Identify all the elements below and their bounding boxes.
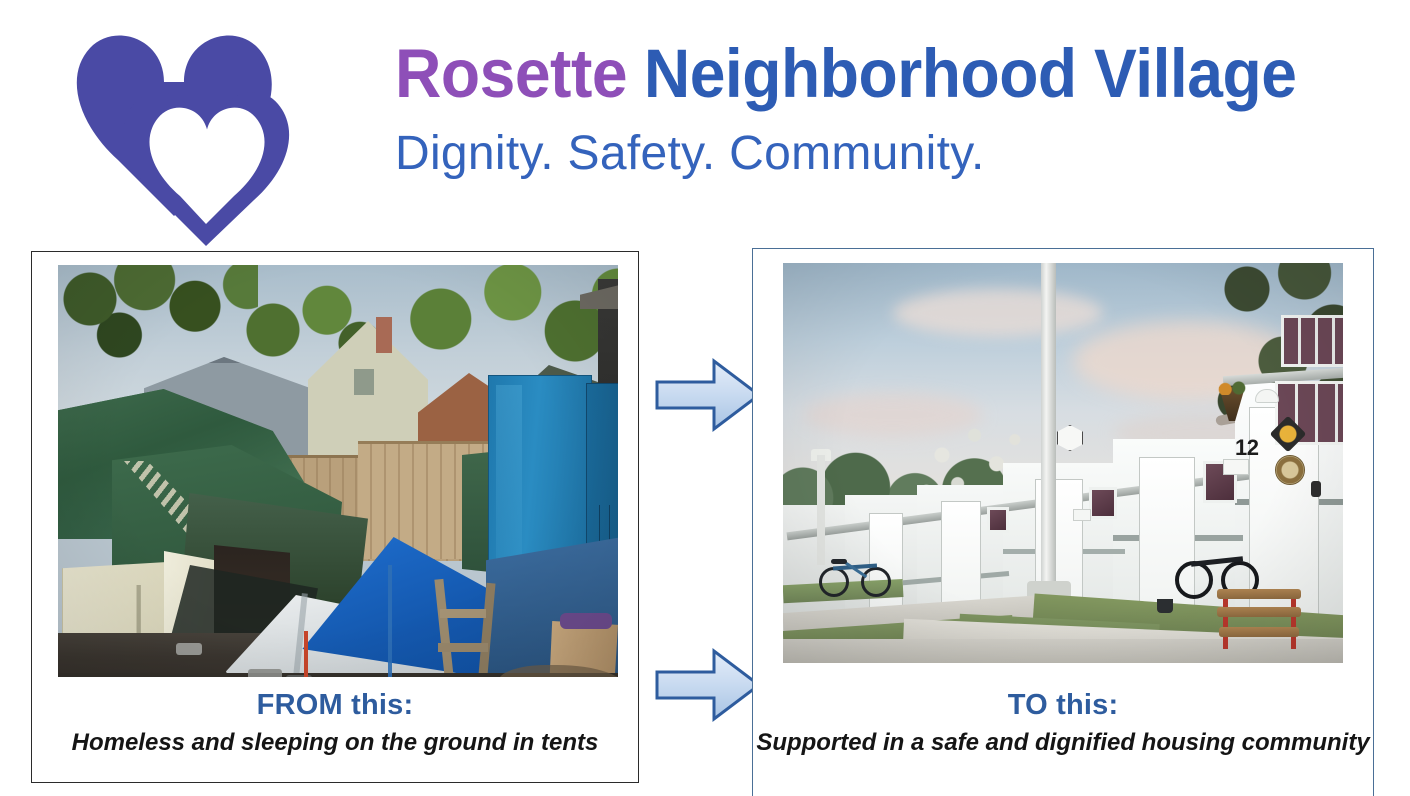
unit-placard <box>1223 459 1249 475</box>
unit-number-label: 12 <box>1235 435 1265 461</box>
ladder-step <box>438 643 488 652</box>
bucket <box>1157 599 1173 613</box>
tiny-home-window <box>1089 487 1117 519</box>
unit-placard <box>1073 509 1091 521</box>
stone <box>286 675 312 677</box>
panel-from: FROM this: Homeless and sleeping on the … <box>31 251 639 783</box>
bicycle <box>819 553 893 599</box>
porch-light <box>1255 389 1279 403</box>
right-arrow-icon <box>654 646 762 724</box>
lamp-post <box>817 455 825 565</box>
house-window <box>354 369 374 395</box>
page-title: RosetteNeighborhood Village <box>395 34 1130 114</box>
two-hearts-logo-icon <box>56 8 306 248</box>
brand-tagline: Dignity. Safety. Community. <box>395 126 1185 182</box>
purple-cloth <box>560 613 612 629</box>
stone <box>248 669 282 677</box>
right-arrow-icon <box>654 356 762 434</box>
red-pole <box>304 631 308 677</box>
caption-to-subtitle: Supported in a safe and dignified housin… <box>753 729 1373 757</box>
tiny-home-window <box>987 507 1009 533</box>
cloud <box>893 289 1103 337</box>
caption-to-heading: TO this: <box>753 689 1373 722</box>
photo-encampment <box>58 265 618 677</box>
brand-title-neighborhood-village: Neighborhood Village <box>644 35 1297 112</box>
panel-to: 12 TO th <box>752 248 1374 796</box>
wooden-bench <box>1213 587 1305 649</box>
photo-tiny-home-village: 12 <box>783 263 1343 663</box>
hanging-planter-foliage <box>1215 381 1249 395</box>
chimney <box>376 317 392 353</box>
caption-from-heading: FROM this: <box>32 689 638 722</box>
utility-pole <box>1041 263 1056 587</box>
slide-canvas: RosetteNeighborhood Village Dignity. Saf… <box>0 0 1410 796</box>
tiny-home-window <box>1281 315 1343 367</box>
ladder-step <box>440 609 486 618</box>
brand-title-rosette: Rosette <box>395 35 627 112</box>
brand-block: RosetteNeighborhood Village Dignity. Saf… <box>395 34 1185 194</box>
stone <box>176 643 202 655</box>
caption-from-subtitle: Homeless and sleeping on the ground in t… <box>32 729 638 757</box>
blue-pole <box>388 565 392 677</box>
door-handle <box>1311 481 1321 497</box>
city-seal-emblem <box>1275 455 1305 485</box>
